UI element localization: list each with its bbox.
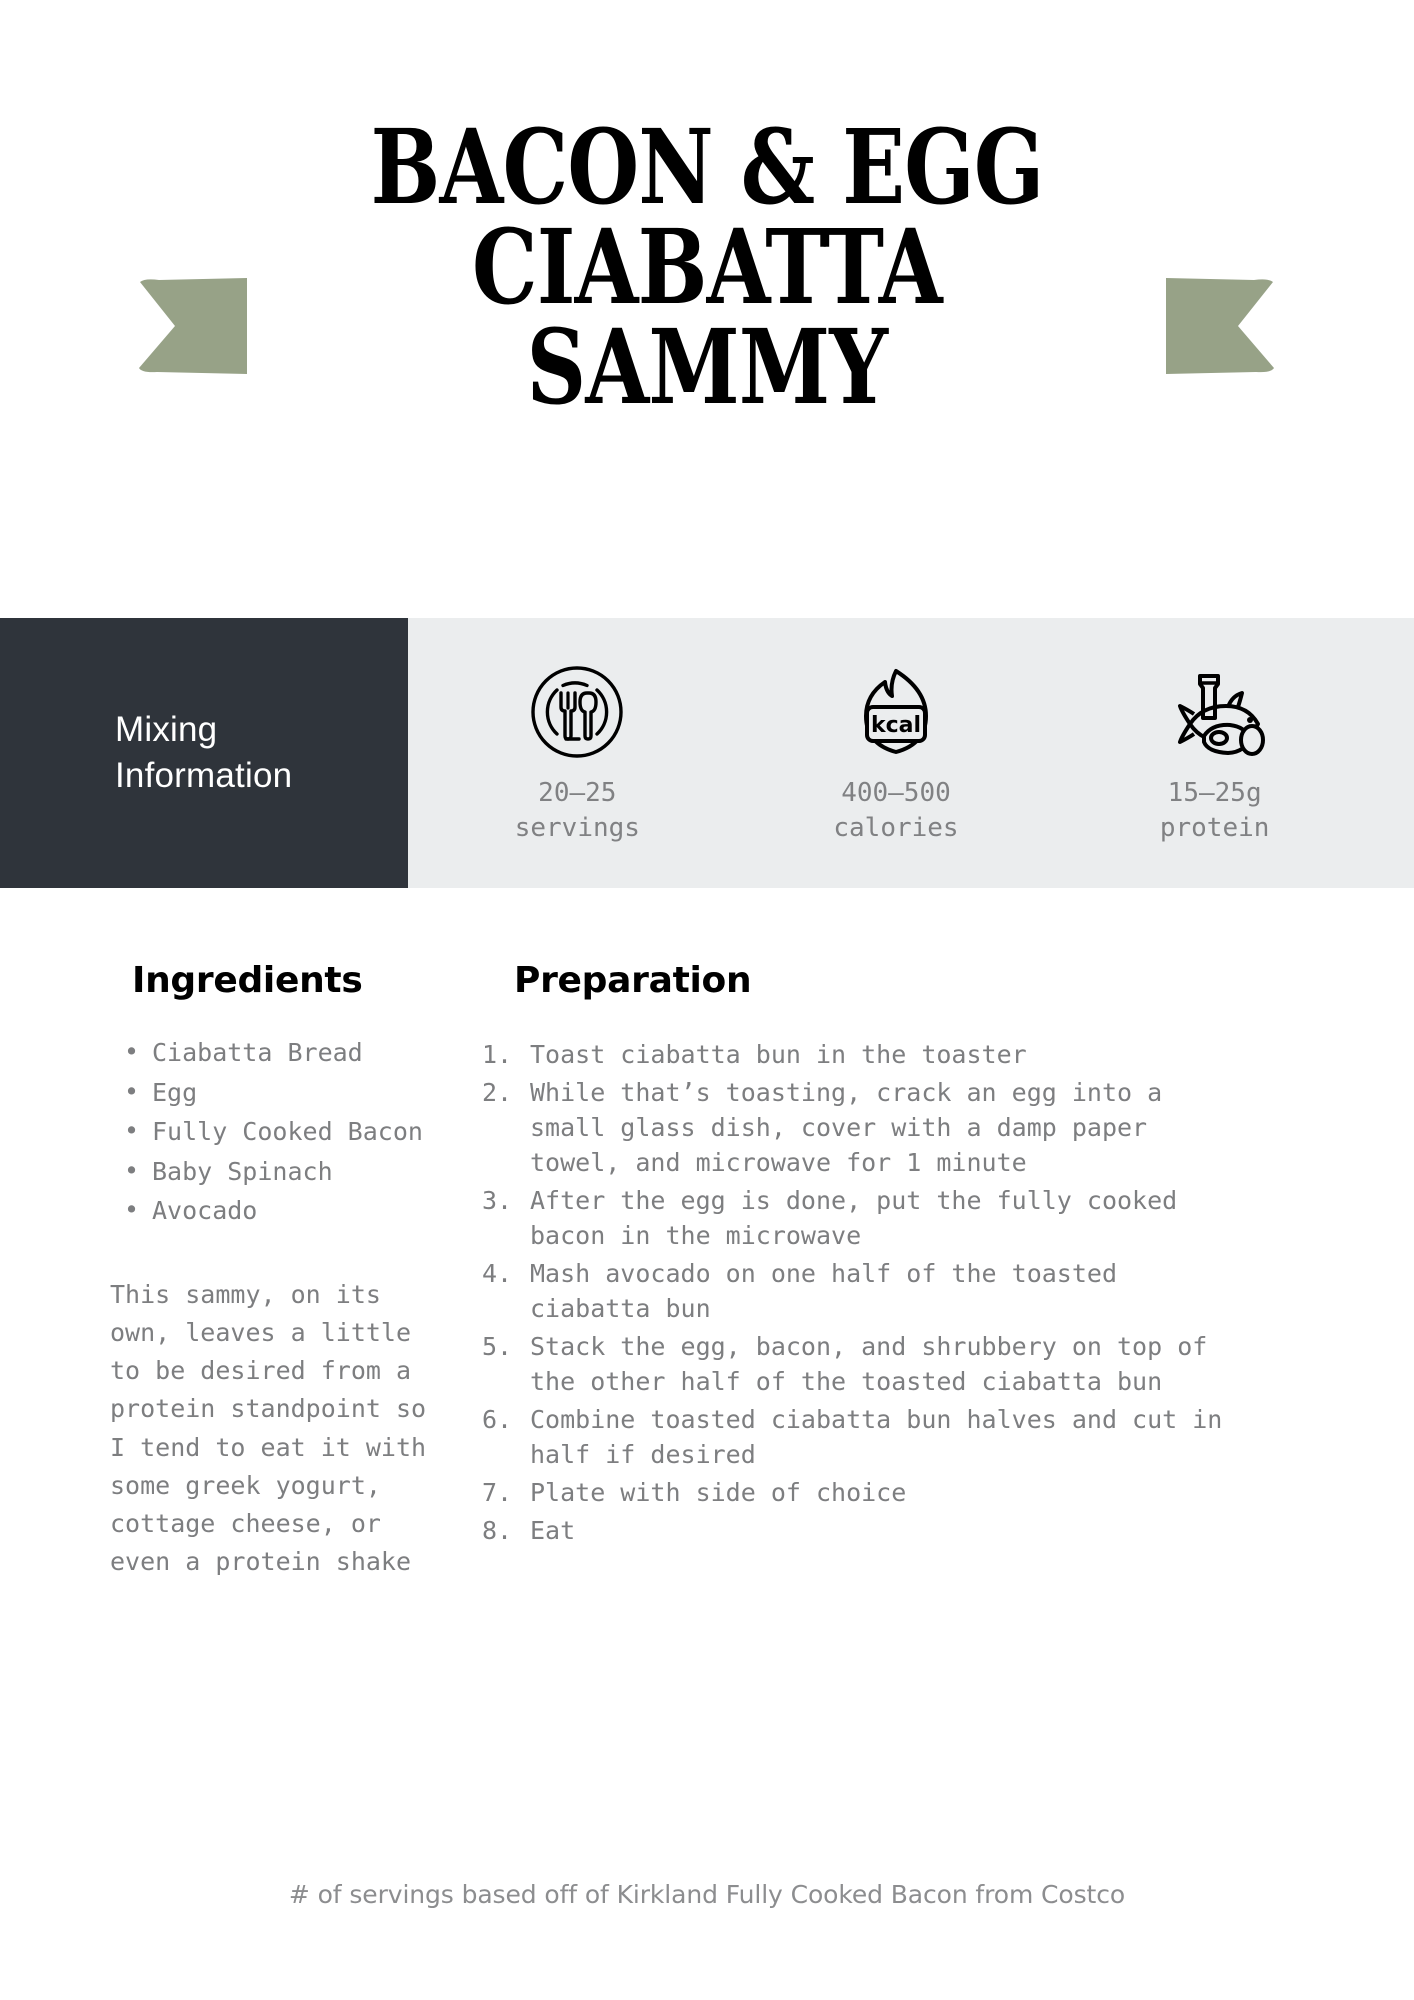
step-number: 8. bbox=[482, 1513, 530, 1548]
stat-servings: 20–25 servings bbox=[457, 660, 697, 847]
flame-kcal-icon: kcal bbox=[846, 660, 946, 764]
step-text: Mash avocado on one half of the toasted … bbox=[530, 1256, 1250, 1326]
step-text: Combine toasted ciabatta bun halves and … bbox=[530, 1402, 1250, 1472]
ribbon-right-decoration bbox=[1166, 276, 1276, 376]
step-number: 3. bbox=[482, 1183, 530, 1253]
ingredients-heading: Ingredients bbox=[100, 960, 440, 1001]
list-item: 4. Mash avocado on one half of the toast… bbox=[482, 1256, 1300, 1326]
mixing-information-bar: Mixing Information bbox=[0, 618, 1414, 888]
step-number: 2. bbox=[482, 1075, 530, 1180]
protein-foods-fish-icon bbox=[1160, 660, 1270, 764]
list-item: 5. Stack the egg, bacon, and shrubbery o… bbox=[482, 1329, 1300, 1399]
step-text: While that’s toasting, crack an egg into… bbox=[530, 1075, 1250, 1180]
list-item: 6. Combine toasted ciabatta bun halves a… bbox=[482, 1402, 1300, 1472]
preparation-column: Preparation 1. Toast ciabatta bun in the… bbox=[440, 960, 1300, 1582]
list-item: Baby Spinach bbox=[152, 1156, 440, 1189]
step-text: Eat bbox=[530, 1513, 1250, 1548]
step-number: 5. bbox=[482, 1329, 530, 1399]
step-number: 4. bbox=[482, 1256, 530, 1326]
ingredients-note: This sammy, on its own, leaves a little … bbox=[100, 1276, 440, 1582]
mixing-information-title: Mixing Information bbox=[115, 707, 292, 799]
step-number: 6. bbox=[482, 1402, 530, 1472]
stat-protein: 15–25g protein bbox=[1095, 660, 1335, 847]
list-item: 8. Eat bbox=[482, 1513, 1300, 1548]
stat-protein-label: 15–25g protein bbox=[1160, 776, 1270, 847]
step-text: After the egg is done, put the fully coo… bbox=[530, 1183, 1250, 1253]
step-text: Toast ciabatta bun in the toaster bbox=[530, 1037, 1250, 1072]
ingredients-list: Ciabatta Bread Egg Fully Cooked Bacon Ba… bbox=[100, 1037, 440, 1228]
list-item: 1. Toast ciabatta bun in the toaster bbox=[482, 1037, 1300, 1072]
list-item: 3. After the egg is done, put the fully … bbox=[482, 1183, 1300, 1253]
mixing-information-panel: Mixing Information bbox=[0, 618, 408, 888]
list-item: Egg bbox=[152, 1077, 440, 1110]
ribbon-left-decoration bbox=[137, 276, 247, 376]
preparation-list: 1. Toast ciabatta bun in the toaster 2. … bbox=[482, 1037, 1300, 1548]
kcal-icon-text: kcal bbox=[871, 713, 921, 738]
list-item: 2. While that’s toasting, crack an egg i… bbox=[482, 1075, 1300, 1180]
list-item: Fully Cooked Bacon bbox=[152, 1116, 440, 1149]
recipe-content: Ingredients Ciabatta Bread Egg Fully Coo… bbox=[0, 960, 1414, 1582]
list-item: Avocado bbox=[152, 1195, 440, 1228]
ingredients-column: Ingredients Ciabatta Bread Egg Fully Coo… bbox=[0, 960, 440, 1582]
stat-calories: kcal 400–500 calories bbox=[776, 660, 1016, 847]
page-title: Bacon & EggCiabattaSammy bbox=[141, 118, 1272, 418]
stat-calories-label: 400–500 calories bbox=[833, 776, 958, 847]
nutrition-stats: 20–25 servings kcal 400–500 calories bbox=[408, 618, 1414, 888]
step-number: 1. bbox=[482, 1037, 530, 1072]
step-number: 7. bbox=[482, 1475, 530, 1510]
step-text: Stack the egg, bacon, and shrubbery on t… bbox=[530, 1329, 1250, 1399]
preparation-heading: Preparation bbox=[482, 960, 1300, 1001]
footer-note: # of servings based off of Kirkland Full… bbox=[0, 1880, 1414, 1909]
stat-servings-label: 20–25 servings bbox=[515, 776, 640, 847]
title-line-3: Sammy bbox=[527, 307, 888, 428]
plate-fork-spoon-icon bbox=[527, 660, 627, 764]
recipe-card: Bacon & EggCiabattaSammy Mixing Informat… bbox=[0, 0, 1414, 2000]
step-text: Plate with side of choice bbox=[530, 1475, 1250, 1510]
list-item: Ciabatta Bread bbox=[152, 1037, 440, 1070]
list-item: 7. Plate with side of choice bbox=[482, 1475, 1300, 1510]
